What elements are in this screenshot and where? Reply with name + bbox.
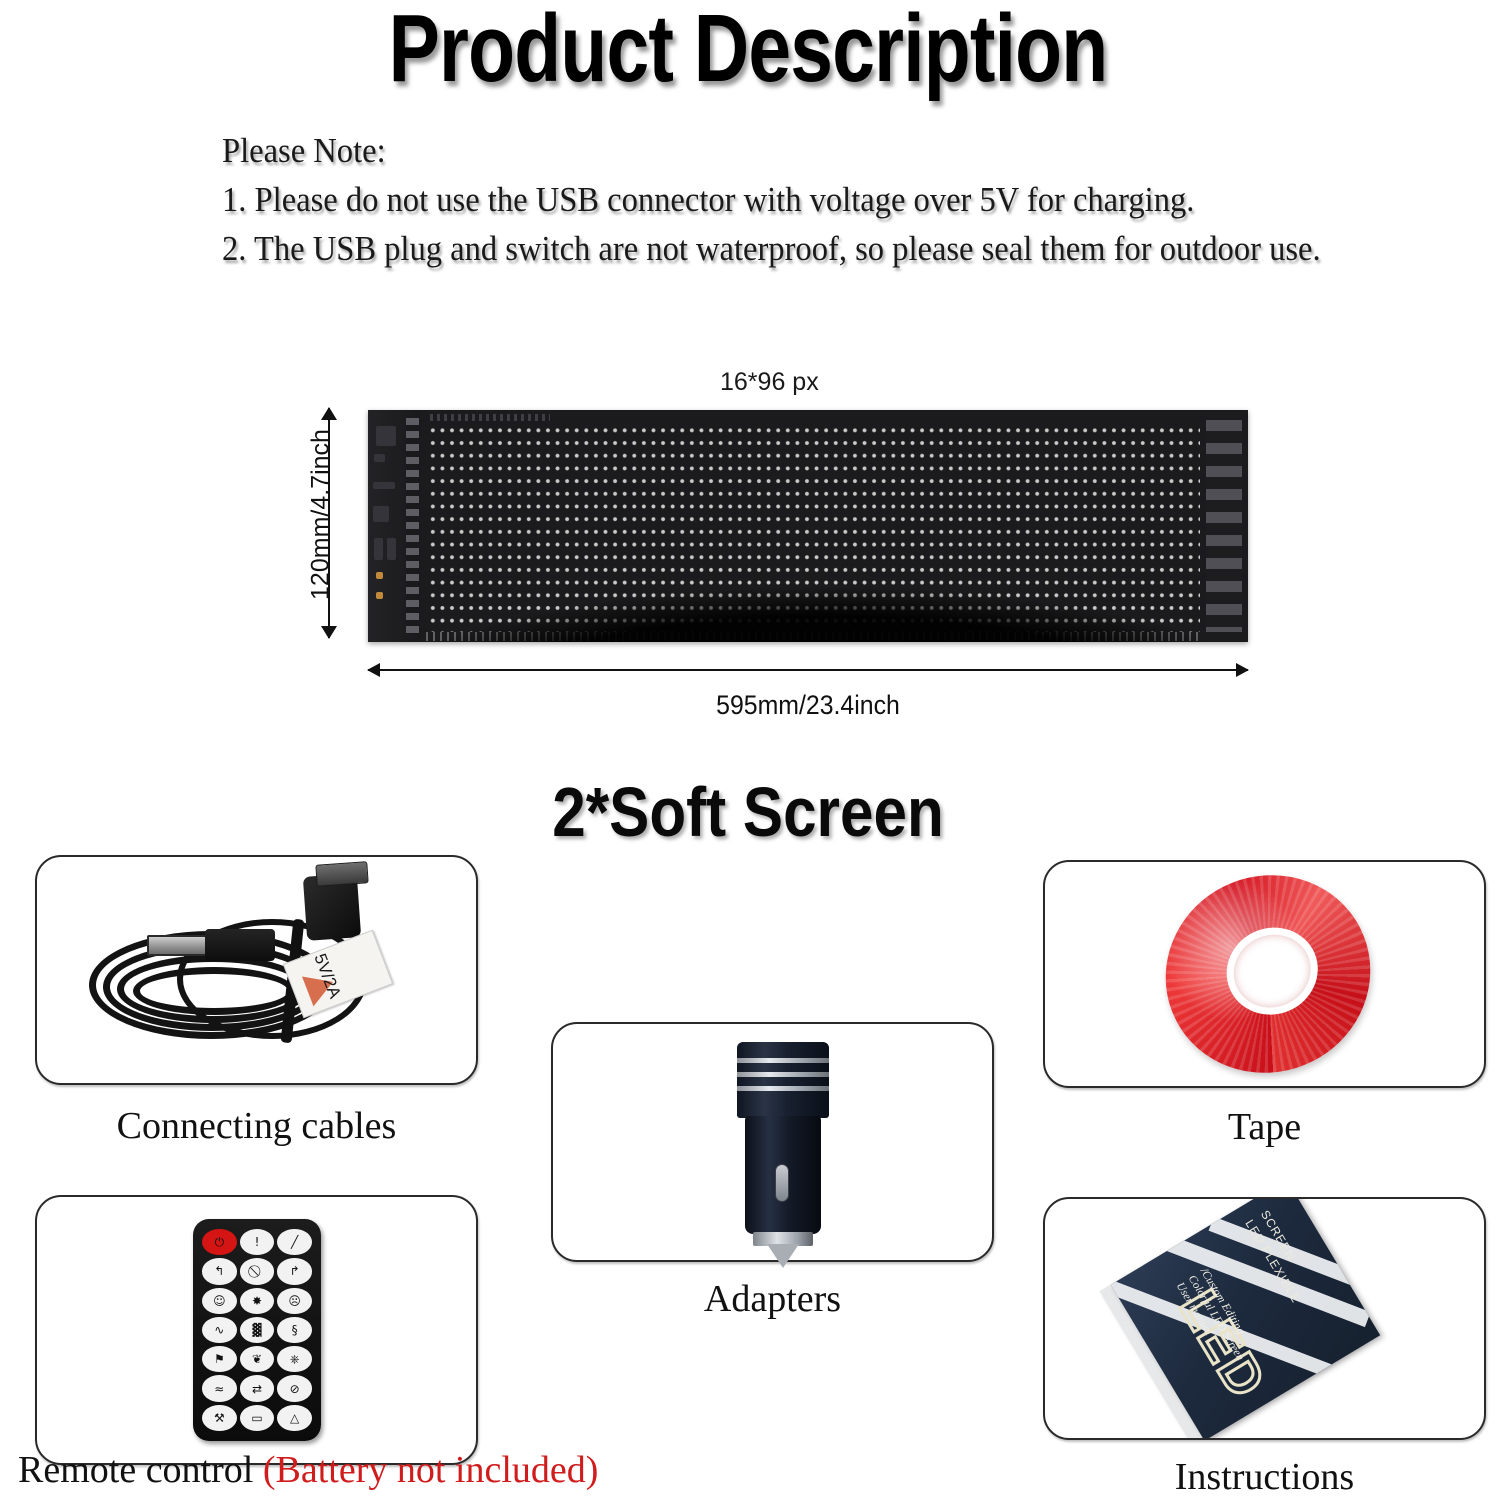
adapter-chrome-ring (737, 1072, 829, 1077)
please-note-block: Please Note: 1. Please do not use the US… (222, 126, 1389, 273)
led-panel-diagram: 16*96 px 120mm/4.7inch 595mm/23.4in (280, 360, 1280, 730)
page-title: Product Description (150, 0, 1347, 104)
remote-button-sad-face[interactable]: ☹ (277, 1288, 312, 1314)
remote-button-arrows[interactable]: ⇄ (240, 1375, 275, 1401)
panel-connector-pads-left (406, 418, 419, 634)
remote-button-figure[interactable]: § (277, 1317, 312, 1343)
remote-button-smiley[interactable]: ☺ (202, 1288, 237, 1314)
pcb-chip (374, 538, 383, 560)
remote-button-turn-right[interactable]: ↱ (277, 1258, 312, 1284)
adapter-top-cap (737, 1042, 829, 1118)
usb-a-connector (147, 935, 213, 956)
panel-connector-pads-right (1206, 420, 1242, 632)
remote-button-exclamation[interactable]: ! (240, 1229, 275, 1255)
adapter-contact-tip (767, 1244, 799, 1268)
panel-bottom-pad-strip (426, 632, 1200, 641)
pcb-chip (376, 426, 396, 446)
remote-button-sparkle[interactable]: ✸ (240, 1288, 275, 1314)
soft-screen-title: 2*Soft Screen (105, 772, 1392, 852)
car-usb-adapter-image (553, 1024, 992, 1260)
caption-tape: Tape (1043, 1105, 1486, 1149)
remote-button-turn-left[interactable]: ↰ (202, 1258, 237, 1284)
caption-remote-battery-note: (Battery not included) (263, 1449, 599, 1491)
width-dimension (368, 658, 1248, 682)
led-dot-matrix (426, 422, 1200, 632)
card-instructions: LED LED FLEXIBLE SCREEN User manual Colo… (1043, 1197, 1486, 1440)
cover-stripe (1177, 1199, 1380, 1200)
caption-adapters: Adapters (551, 1277, 994, 1321)
pcb-chip (387, 538, 396, 560)
remote-button-wave[interactable]: ∿ (202, 1317, 237, 1343)
panel-pcb-left-edge (368, 410, 420, 642)
card-connecting-cables: 5V/2A (35, 855, 478, 1085)
pcb-chip (374, 454, 385, 462)
remote-button-prohibited[interactable]: ⃠ (240, 1258, 275, 1284)
usb-plug-metal-tip (315, 861, 368, 887)
manual-cover: LED LED FLEXIBLE SCREEN User manual Colo… (1111, 1199, 1380, 1438)
remote-button-triangle[interactable]: △ (277, 1405, 312, 1431)
remote-button-equalizer[interactable]: ▓ (240, 1317, 275, 1343)
pcb-chip (373, 506, 389, 522)
pcb-led (376, 572, 383, 579)
remote-button-steering-wheel[interactable]: ⎈ (277, 1346, 312, 1372)
remote-button-waves[interactable]: ≈ (202, 1375, 237, 1401)
instruction-manual-image: LED LED FLEXIBLE SCREEN User manual Colo… (1045, 1199, 1484, 1438)
note-line-1: 1. Please do not use the USB connector w… (222, 175, 1389, 224)
remote-button-grid: ⏻ ! ╱ ↰ ⃠ ↱ ☺ ✸ ☹ ∿ ▓ § ⚑ ❦ ⎈ ≈ ⇄ ⊘ ⚒ ▭ … (202, 1229, 312, 1431)
pcb-led (376, 592, 383, 599)
remote-button-tool[interactable]: ⚒ (202, 1405, 237, 1431)
remote-button-slash-bar[interactable]: ⊘ (277, 1375, 312, 1401)
arrow-left-icon (367, 663, 380, 677)
arrow-right-icon (1236, 663, 1249, 677)
card-remote-control: ⏻ ! ╱ ↰ ⃠ ↱ ☺ ✸ ☹ ∿ ▓ § ⚑ ❦ ⎈ ≈ ⇄ ⊘ ⚒ ▭ … (35, 1195, 478, 1465)
caption-instructions: Instructions (1043, 1455, 1486, 1499)
remote-button-power[interactable]: ⏻ (202, 1229, 237, 1255)
adapter-chrome-ring (737, 1086, 829, 1091)
caption-remote-control: Remote control (Battery not included) (0, 1448, 660, 1492)
panel-silkscreen-label (430, 414, 550, 421)
tape-roll-outer (1135, 844, 1401, 1105)
card-tape (1043, 860, 1486, 1088)
connecting-cable-image: 5V/2A (37, 857, 476, 1083)
height-dimension: 120mm/4.7inch (302, 408, 338, 638)
usb-connector-body (205, 929, 275, 961)
pixel-resolution-label: 16*96 px (720, 368, 819, 397)
remote-button-bird[interactable]: ❦ (240, 1346, 275, 1372)
remote-button-bed[interactable]: ▭ (240, 1405, 275, 1431)
double-sided-tape-image (1045, 862, 1484, 1086)
adapter-usb-port (775, 1164, 789, 1202)
remote-button-flag[interactable]: ⚑ (202, 1346, 237, 1372)
note-heading: Please Note: (222, 126, 1389, 175)
width-dimension-label: 595mm/23.4inch (403, 690, 1213, 721)
caption-remote-main: Remote control (18, 1449, 263, 1491)
width-dimension-line (368, 669, 1248, 671)
remote-button-brightness[interactable]: ╱ (277, 1229, 312, 1255)
caption-connecting-cables: Connecting cables (35, 1104, 478, 1148)
adapter-chrome-ring (737, 1058, 829, 1063)
card-adapters (551, 1022, 994, 1262)
remote-control-image: ⏻ ! ╱ ↰ ⃠ ↱ ☺ ✸ ☹ ∿ ▓ § ⚑ ❦ ⎈ ≈ ⇄ ⊘ ⚒ ▭ … (193, 1219, 321, 1441)
pcb-chip (373, 482, 395, 489)
note-line-2: 2. The USB plug and switch are not water… (222, 224, 1389, 273)
led-flexible-panel (368, 410, 1248, 642)
height-dimension-label: 120mm/4.7inch (307, 400, 336, 630)
